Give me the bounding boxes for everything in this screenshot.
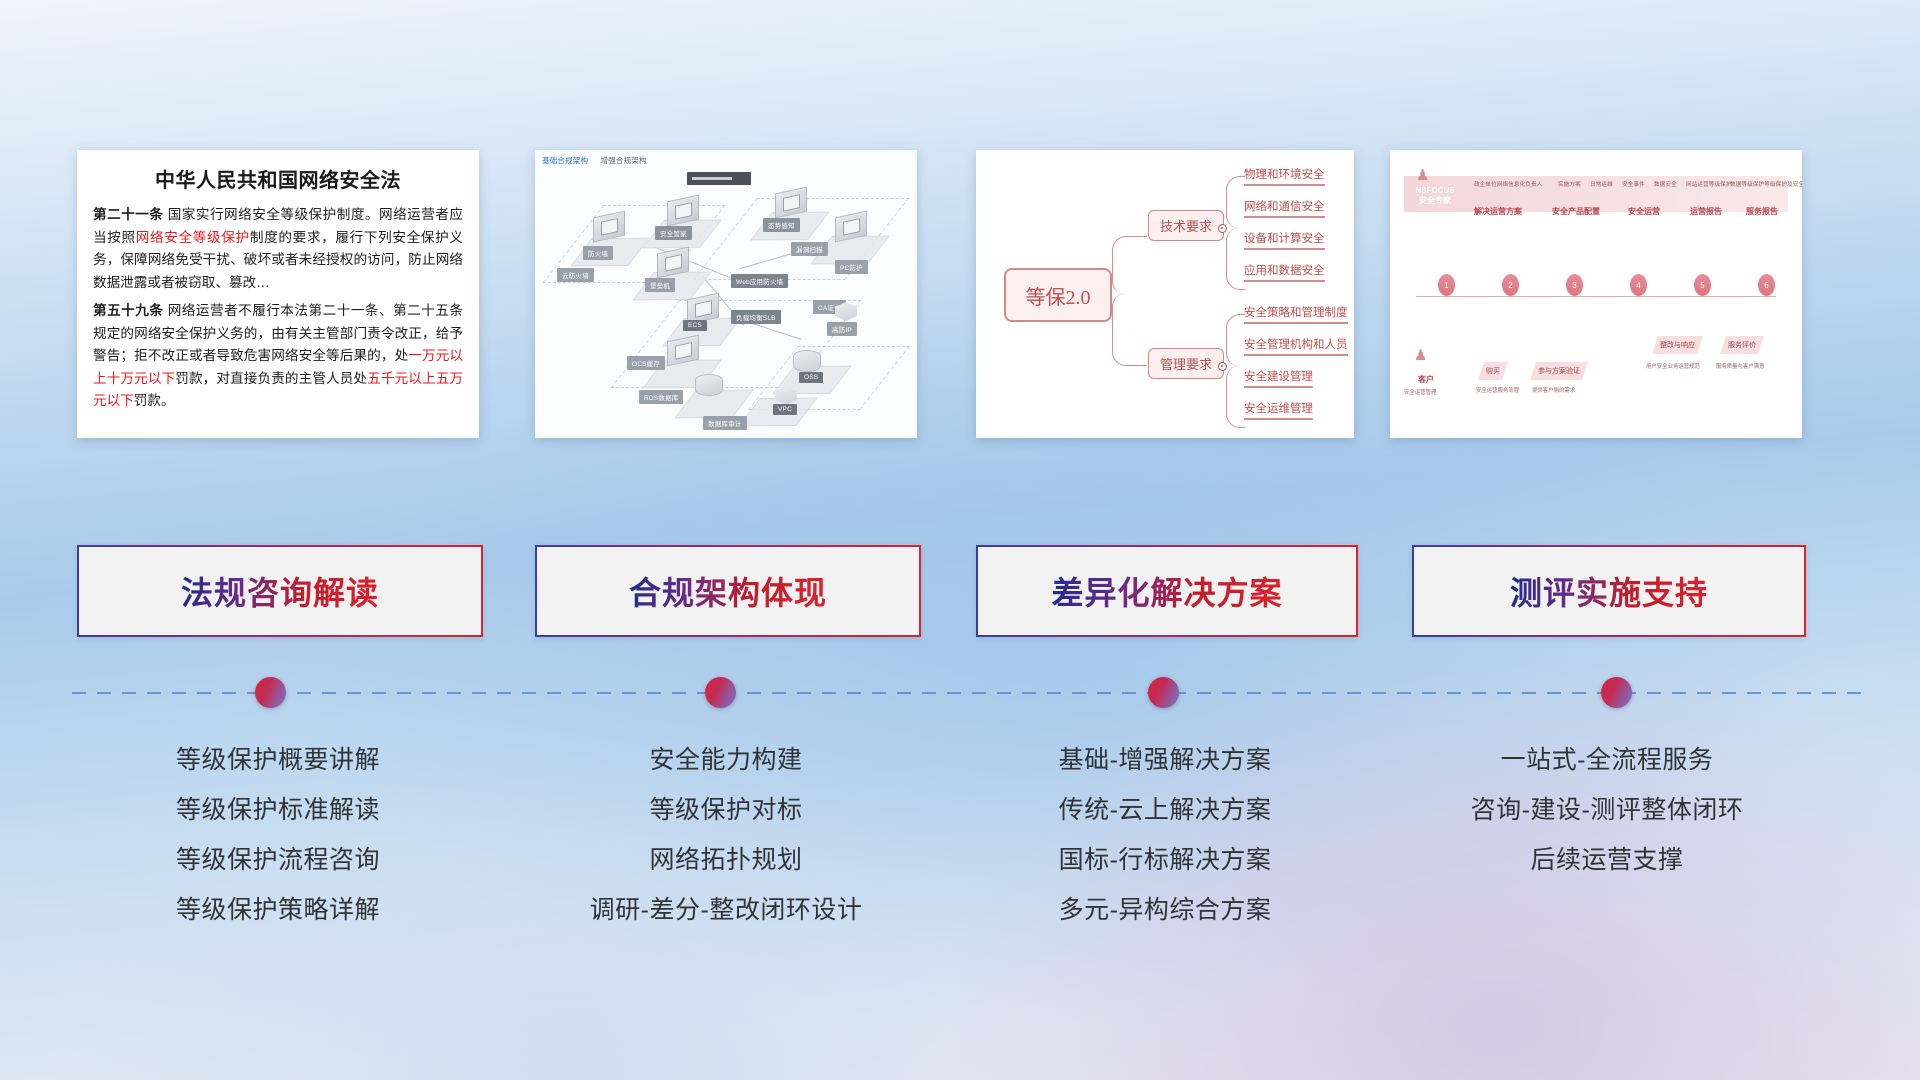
- roadmap-step-1: 2: [1502, 274, 1519, 296]
- node-label-ocs-cache: OCS缓存: [627, 356, 665, 370]
- root-branch-curve-top: [1112, 236, 1147, 295]
- timeline-dot-4[interactable]: [1601, 677, 1632, 708]
- roadmap-header-2: 安全运营: [1628, 206, 1660, 217]
- list-item: 一站式-全流程服务: [1412, 735, 1802, 785]
- card-service-roadmap[interactable]: ♟ NSFOCUS 安全专家 政企单位网络信息化负责人 实施方案 日常运维 安全…: [1390, 150, 1802, 438]
- node-label-vuln-scan: 漏洞扫描: [791, 242, 828, 256]
- preview-cards-row: 中华人民共和国网络安全法 第二十一条 国家实行网络安全等级保护制度。网络运营者应…: [0, 150, 1920, 440]
- node-label-firewall: 防火墙: [583, 246, 613, 260]
- article-59-text-c: 罚款。: [134, 393, 175, 408]
- list-item: 多元-异构综合方案: [976, 885, 1354, 935]
- headline-box-differentiated-solution[interactable]: 差异化解决方案: [976, 545, 1358, 637]
- tab-basic-architecture[interactable]: 基础合规架构: [542, 156, 588, 165]
- article-59-text-b: 罚款，对直接负责的主管人员处: [175, 371, 367, 386]
- roadmap-header-1: 安全产品配置: [1552, 206, 1600, 217]
- mindmap-leaf-tech-2: 设备和计算安全: [1244, 230, 1325, 250]
- mindmap-leaf-mgmt-2: 安全建设管理: [1244, 368, 1313, 388]
- list-item: 后续运营支撑: [1412, 835, 1802, 885]
- roadmap-step-5: 6: [1758, 274, 1775, 296]
- mindmap-node-dot-management: [1218, 362, 1227, 371]
- roadmap-step-2: 3: [1566, 274, 1583, 296]
- timeline-dashed-line: [72, 692, 1862, 694]
- tech-fan-upper: [1226, 176, 1245, 229]
- list-item: 调研-差分-整改闭环设计: [535, 885, 917, 935]
- expert-avatar-icon: ♟: [1416, 166, 1429, 184]
- roadmap-bottom-sub-1: 提供客户侧的需求: [1532, 386, 1575, 394]
- roadmap-bottom-box-1: 参与方案验证: [1530, 362, 1588, 380]
- diagram-titlebar: [687, 172, 751, 185]
- node-icon-rds: [695, 374, 723, 396]
- headline-row: 法规咨询解读 合规架构体现 差异化解决方案 测评实施支持: [0, 545, 1920, 645]
- tech-fan-lower: [1226, 227, 1245, 290]
- root-branch-curve-bottom: [1112, 293, 1147, 366]
- node-label-oss: OSS: [799, 372, 823, 383]
- architecture-diagram: 基础合规架构 增强合规架构 防火墙 云防火墙: [535, 150, 917, 438]
- card-compliance-architecture[interactable]: 基础合规架构 增强合规架构 防火墙 云防火墙: [535, 150, 917, 438]
- band-tag-0: 政企单位网络信息化负责人: [1474, 180, 1542, 188]
- mindmap-branch-technical: 技术要求: [1148, 210, 1224, 241]
- roadmap-diagram: ♟ NSFOCUS 安全专家 政企单位网络信息化负责人 实施方案 日常运维 安全…: [1390, 150, 1802, 438]
- node-icon-oss: [793, 350, 821, 372]
- nsfocus-brand: NSFOCUS 安全专家: [1404, 186, 1466, 206]
- mindmap-leaf-mgmt-0: 安全策略和管理制度: [1244, 304, 1348, 324]
- roadmap-step-4: 5: [1694, 274, 1711, 296]
- list-item: 网络拓扑规划: [535, 835, 917, 885]
- detail-list-regulation-consulting: 等级保护概要讲解 等级保护标准解读 等级保护流程咨询 等级保护策略详解: [77, 735, 479, 935]
- nsfocus-brand-line2: 安全专家: [1404, 196, 1466, 206]
- node-label-anti-ddos-ip: 高防IP: [827, 322, 857, 336]
- mindmap-node-dot-technical: [1218, 224, 1227, 233]
- headline-box-assessment-support[interactable]: 测评实施支持: [1412, 545, 1806, 637]
- band-tag-4: 数据安全: [1654, 180, 1677, 188]
- roadmap-bottom-sub-3: 服务质量与客户满意: [1716, 362, 1765, 370]
- mindmap-leaf-tech-3: 应用和数据安全: [1244, 262, 1325, 282]
- slide-canvas: 中华人民共和国网络安全法 第二十一条 国家实行网络安全等级保护制度。网络运营者应…: [0, 0, 1920, 1080]
- list-item: 传统-云上解决方案: [976, 785, 1354, 835]
- roadmap-bottom-sub-2: 用户安全业务运营规范: [1646, 362, 1700, 370]
- band-tag-1: 实施方案: [1558, 180, 1581, 188]
- band-tag-2: 日常运维: [1590, 180, 1613, 188]
- node-label-slb: 负载均衡SLB: [731, 310, 781, 324]
- timeline-dot-3[interactable]: [1148, 677, 1179, 708]
- tab-enhanced-architecture[interactable]: 增强合规架构: [601, 156, 647, 165]
- card-cybersecurity-law[interactable]: 中华人民共和国网络安全法 第二十一条 国家实行网络安全等级保护制度。网络运营者应…: [77, 150, 479, 438]
- headline-box-regulation-consulting[interactable]: 法规咨询解读: [77, 545, 483, 637]
- timeline-dot-1[interactable]: [255, 677, 286, 708]
- mgmt-fan-upper: [1226, 314, 1245, 367]
- list-item: 等级保护标准解读: [77, 785, 479, 835]
- node-label-vpc: VPC: [773, 404, 797, 415]
- architecture-tabs[interactable]: 基础合规架构 增强合规架构: [542, 155, 657, 166]
- band-tag-6: 数据等级保护等级保护及安全建设: [1730, 180, 1802, 188]
- law-title: 中华人民共和国网络安全法: [93, 164, 463, 193]
- roadmap-header-3: 运营报告: [1690, 206, 1722, 217]
- headline-box-compliance-architecture[interactable]: 合规架构体现: [535, 545, 921, 637]
- nsfocus-brand-line1: NSFOCUS: [1404, 186, 1466, 196]
- detail-lists-row: 等级保护概要讲解 等级保护标准解读 等级保护流程咨询 等级保护策略详解 安全能力…: [0, 735, 1920, 965]
- timeline-dot-2[interactable]: [705, 677, 736, 708]
- roadmap-timeline-line: [1416, 296, 1776, 297]
- list-item: 等级保护策略详解: [77, 885, 479, 935]
- band-tag-5: 网站运营等级保护: [1686, 180, 1732, 188]
- roadmap-bottom-sub-0: 安全运营服务流程: [1476, 386, 1519, 394]
- timeline: [0, 692, 1920, 694]
- node-label-ecs: ECS: [683, 320, 707, 331]
- roadmap-bottom-left-sub: 安全运营管理: [1404, 388, 1436, 396]
- roadmap-bottom-box-0: 购买: [1478, 362, 1508, 380]
- law-article-59: 第五十九条 网络运营者不履行本法第二十一条、第二十五条规定的网络安全保护义务的，…: [93, 300, 463, 413]
- list-item: 国标-行标解决方案: [976, 835, 1354, 885]
- node-label-bastion: 堡垒机: [645, 278, 675, 292]
- list-item: 等级保护概要讲解: [77, 735, 479, 785]
- node-label-waf: Web应用防火墙: [731, 274, 788, 288]
- list-item: 基础-增强解决方案: [976, 735, 1354, 785]
- list-item: 等级保护对标: [535, 785, 917, 835]
- detail-list-compliance-architecture: 安全能力构建 等级保护对标 网络拓扑规划 调研-差分-整改闭环设计: [535, 735, 917, 935]
- headline-label-0: 法规咨询解读: [181, 568, 379, 614]
- mindmap-leaf-mgmt-3: 安全运维管理: [1244, 400, 1313, 420]
- node-label-security-butler: 安全管家: [655, 226, 692, 240]
- mindmap-leaf-tech-0: 物理和环境安全: [1244, 166, 1325, 186]
- customer-avatar-icon: ♟: [1414, 346, 1427, 364]
- article-21-highlight: 网络安全等级保护: [136, 230, 250, 245]
- roadmap-bottom-box-3: 服务评价: [1720, 336, 1764, 354]
- node-label-db-audit: 数据库审计: [703, 416, 747, 430]
- mindmap-branch-management: 管理要求: [1148, 348, 1224, 379]
- mindmap-root: 等保2.0: [1004, 268, 1112, 322]
- law-document: 中华人民共和国网络安全法 第二十一条 国家实行网络安全等级保护制度。网络运营者应…: [77, 150, 479, 438]
- node-label-situation-awareness: 态势感知: [763, 218, 800, 232]
- node-label-cloud-firewall: 云防火墙: [557, 268, 594, 282]
- list-item: 等级保护流程咨询: [77, 835, 479, 885]
- headline-label-2: 差异化解决方案: [1051, 568, 1282, 614]
- band-tag-3: 安全事件: [1622, 180, 1645, 188]
- law-article-21: 第二十一条 国家实行网络安全等级保护制度。网络运营者应当按照网络安全等级保护制度…: [93, 204, 463, 294]
- card-dengbao-mindmap[interactable]: 等保2.0 技术要求 物理和环境安全 网络和通信安全 设备和计算安全 应用和数据…: [976, 150, 1354, 438]
- roadmap-step-0: 1: [1438, 274, 1455, 296]
- headline-label-3: 测评实施支持: [1510, 568, 1708, 614]
- detail-list-differentiated-solution: 基础-增强解决方案 传统-云上解决方案 国标-行标解决方案 多元-异构综合方案: [976, 735, 1354, 935]
- roadmap-header-0: 解决运营方案: [1474, 206, 1522, 217]
- mgmt-fan-lower: [1226, 365, 1245, 428]
- article-21-label: 第二十一条: [93, 207, 163, 222]
- roadmap-bottom-left-label: 客户: [1418, 374, 1434, 385]
- detail-list-assessment-support: 一站式-全流程服务 咨询-建设-测评整体闭环 后续运营支撑: [1412, 735, 1802, 885]
- headline-label-1: 合规架构体现: [629, 568, 827, 614]
- roadmap-step-3: 4: [1630, 274, 1647, 296]
- list-item: 咨询-建设-测评整体闭环: [1412, 785, 1802, 835]
- roadmap-bottom-box-2: 整改与响应: [1652, 336, 1703, 354]
- node-label-pc-protection: PC防护: [835, 260, 868, 274]
- list-item: 安全能力构建: [535, 735, 917, 785]
- mindmap: 等保2.0 技术要求 物理和环境安全 网络和通信安全 设备和计算安全 应用和数据…: [976, 150, 1354, 438]
- mindmap-leaf-tech-1: 网络和通信安全: [1244, 198, 1325, 218]
- node-label-rds: RDS数据库: [639, 390, 683, 404]
- mindmap-leaf-mgmt-1: 安全管理机构和人员: [1244, 336, 1348, 356]
- article-59-label: 第五十九条: [93, 303, 163, 318]
- roadmap-header-4: 服务报告: [1746, 206, 1778, 217]
